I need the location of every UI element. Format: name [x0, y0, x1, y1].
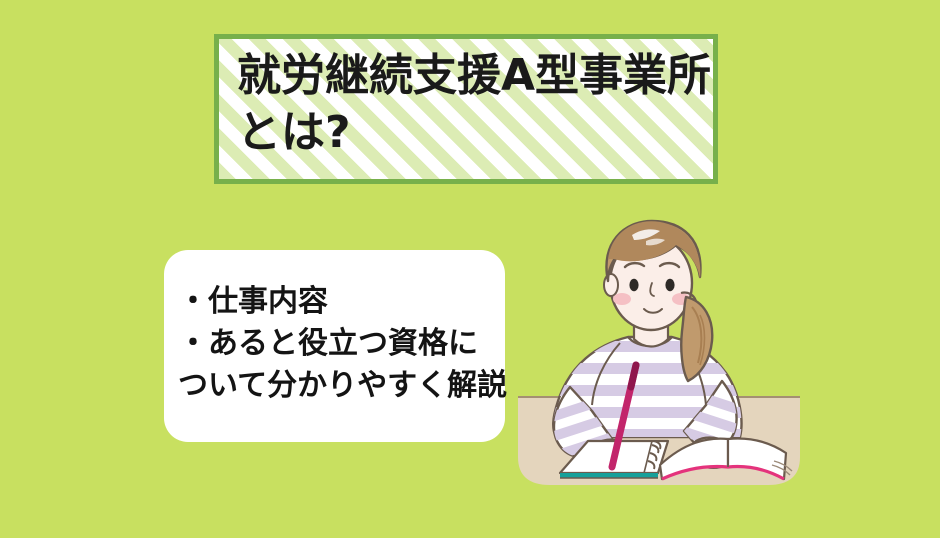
slide-canvas: 就労継続支援A型事業所 とは? ・仕事内容 ・あると役立つ資格に ついて分かりや… [0, 0, 940, 538]
title-line-2: とは? [237, 104, 709, 161]
title-line-1: 就労継続支援A型事業所 [237, 47, 709, 104]
info-card-line-2: ・あると役立つ資格に [178, 323, 499, 365]
left-cheek [613, 293, 631, 305]
info-card: ・仕事内容 ・あると役立つ資格に ついて分かりやすく解説 [164, 250, 505, 442]
left-eye [629, 279, 638, 291]
woman-studying-at-desk-illustration [500, 215, 830, 495]
illustration-svg [500, 215, 830, 495]
right-eye [665, 279, 674, 291]
title-text-block: 就労継続支援A型事業所 とは? [237, 47, 709, 161]
info-card-line-3: ついて分かりやすく解説 [178, 365, 499, 407]
info-card-text-block: ・仕事内容 ・あると役立つ資格に ついて分かりやすく解説 [178, 281, 499, 407]
info-card-line-1: ・仕事内容 [178, 281, 499, 323]
title-banner: 就労継続支援A型事業所 とは? [214, 34, 718, 184]
